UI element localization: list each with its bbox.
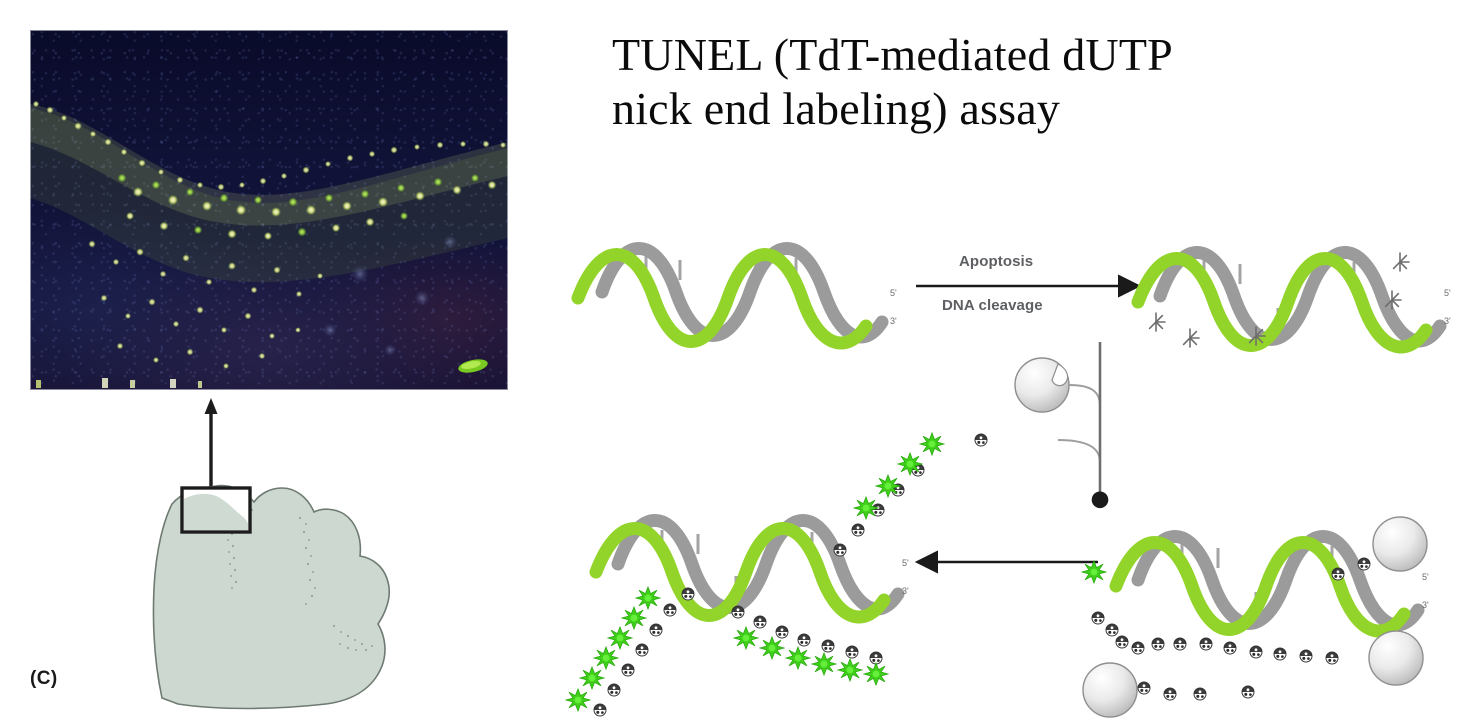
tdt-enzyme-group [1015,358,1100,500]
svg-text:3': 3' [1422,600,1429,610]
step-cleaved-dna: 5' 3' [1138,253,1451,348]
svg-text:3': 3' [1444,316,1451,326]
svg-text:5': 5' [1444,288,1451,298]
apoptosis-arrow-label-above: Apoptosis [959,253,1033,270]
step-intact-dna: 5' 3' [578,249,897,343]
svg-text:5': 5' [890,288,897,298]
page-title: TUNEL (TdT-mediated dUTP nick end labeli… [612,28,1442,137]
apoptosis-arrow-label-below: DNA cleavage [942,297,1043,314]
micrograph-border [30,30,508,390]
fluorescence-micrograph [30,30,508,390]
tunel-mechanism-diagram: 5' 3' 5' 3' [560,200,1462,720]
step-fitc-dna: 5' 3' [566,433,944,716]
svg-text:3': 3' [902,586,909,596]
step-labeled-dna: 5' 3' [1083,517,1429,717]
panel-tunel-assay: TUNEL (TdT-mediated dUTP nick end labeli… [560,0,1462,728]
title-line-1: TUNEL (TdT-mediated dUTP [612,28,1442,82]
fitc-chain-upper-right [834,433,944,556]
svg-text:3': 3' [890,316,897,326]
fitc-legend-icon [1082,561,1106,583]
fitc-chain-lower-left [566,587,694,716]
title-line-2: nick end labeling) assay [612,82,1442,136]
free-br-dutp [1138,682,1254,700]
svg-text:5': 5' [1422,572,1429,582]
br-dutp-group [975,434,1100,462]
panel-c: (C) [0,0,560,728]
panel-label: (C) [30,668,58,690]
tissue-section-schematic [120,398,450,716]
svg-text:5': 5' [902,558,909,568]
magnification-arrow [205,398,218,490]
